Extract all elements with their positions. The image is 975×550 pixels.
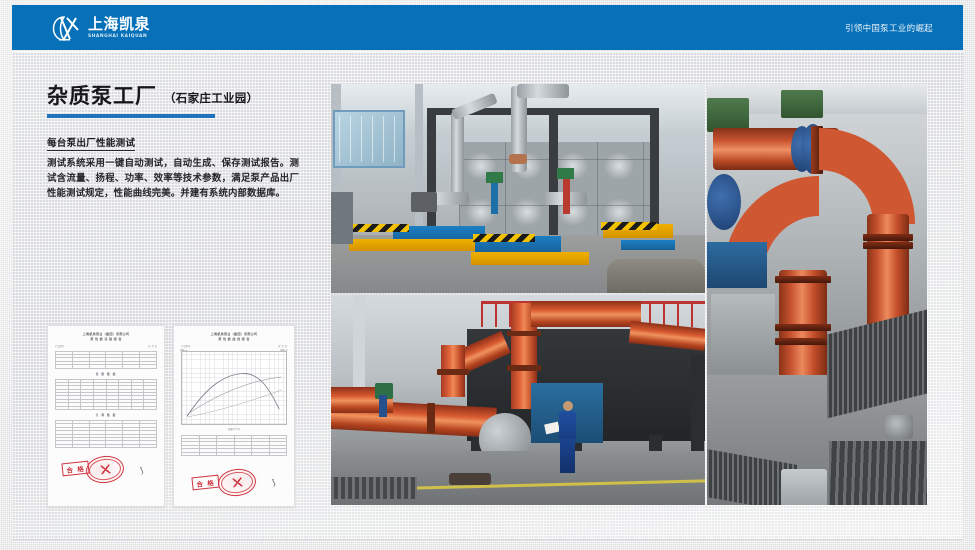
p1-valve-actuator-1 [486, 172, 503, 183]
doc-b-meta-left: 产品型号 [181, 344, 191, 348]
p2-worker-torso [559, 411, 576, 441]
header-bar: 上海凯泉 SHANGHAI KAIQUAN 引领中国泵工业的崛起 [12, 5, 963, 50]
brand-logo[interactable]: 上海凯泉 SHANGHAI KAIQUAN [52, 14, 150, 42]
p2-flange-3 [437, 369, 469, 375]
header-slogan: 引领中国泵工业的崛起 [845, 5, 933, 50]
p1-pipe-coupling [509, 154, 527, 164]
photo-left-column [331, 84, 705, 505]
p3-light-panel [711, 294, 775, 374]
p2-valve-stem [379, 395, 387, 417]
doc-b-performance-curve-chart: 扬程(m) 效率(%) [181, 351, 287, 425]
doc-a-meta-right: 年 月 日 [148, 344, 157, 348]
p1-motor [411, 192, 437, 212]
doc-a-section-1: 性 能 数 据 [55, 372, 157, 376]
body-paragraph: 测试系统采用一键自动测试，自动生成、保存测试报告。测试含流量、扬程、功率、效率等… [47, 156, 299, 202]
p1-horizontal-pipe-top [517, 84, 569, 98]
left-content-column: 杂质泵工厂 （石家庄工业园） 每台泵出厂性能测试 测试系统采用一键自动测试，自动… [47, 86, 302, 202]
p3-blue-machine [707, 242, 767, 288]
p3-right-elbow [819, 128, 915, 224]
p2-floor-tools [449, 473, 491, 485]
p3-right-flange-2 [863, 242, 913, 249]
p3-left-flange-1 [775, 276, 831, 283]
p1-valve-stand-1 [491, 180, 498, 214]
p2-worker-legs [560, 439, 575, 473]
p1-cart-base-2 [471, 252, 589, 265]
p3-green-valve-1 [707, 98, 749, 132]
doc-a-data-table-2 [55, 420, 157, 448]
brand-name-cn: 上海凯泉 [88, 17, 150, 32]
document-pump-curve-report[interactable]: 上海凯泉泵业（集团）有限公司 泵 性 能 曲 线 报 告 产品型号 年 月 日 … [173, 325, 295, 507]
page-title: 杂质泵工厂 （石家庄工业园） [47, 86, 302, 107]
document-pump-test-report[interactable]: 上海凯泉泵业（集团）有限公司 泵 性 能 试 验 报 告 产品型号 年 月 日 … [47, 325, 165, 507]
p2-flange-4 [427, 403, 435, 433]
doc-a-section-2: 计 算 数 据 [55, 413, 157, 417]
p3-channel-grate [829, 441, 927, 505]
brand-logo-text: 上海凯泉 SHANGHAI KAIQUAN [88, 17, 150, 39]
p1-cart-base-1 [349, 239, 479, 251]
p3-spare-flange [885, 415, 913, 439]
page-title-sub: （石家庄工业园） [164, 90, 258, 107]
p3-left-flange-2 [775, 324, 831, 331]
page-root: 上海凯泉 SHANGHAI KAIQUAN 引领中国泵工业的崛起 杂质泵工厂 （… [0, 0, 975, 550]
p3-pipe-water-outlet [781, 469, 827, 505]
doc-a-data-table-1 [55, 379, 157, 411]
p1-control-room [333, 110, 405, 168]
doc-a-meta-left: 产品型号 [55, 344, 65, 348]
p3-right-flange-1 [863, 234, 913, 241]
p3-green-valve-2 [781, 90, 823, 118]
page-title-main: 杂质泵工厂 [47, 86, 157, 107]
brand-name-en: SHANGHAI KAIQUAN [88, 35, 150, 39]
test-hall-stainless-tanks-photo[interactable] [331, 84, 705, 293]
p3-left-flange-3 [775, 338, 831, 345]
p1-hazard-stripe-2 [473, 234, 535, 242]
p2-worker-head [563, 401, 573, 411]
body-heading: 每台泵出厂性能测试 [47, 135, 135, 151]
p1-cart-base-3 [621, 240, 675, 250]
p1-vertical-pipe-2 [451, 112, 464, 198]
document-thumbnails: 上海凯泉泵业（集团）有限公司 泵 性 能 试 验 报 告 产品型号 年 月 日 … [47, 325, 295, 507]
p1-frame-post-2 [549, 108, 558, 253]
p1-valve-stand-2 [563, 176, 570, 214]
p2-building-column [353, 295, 365, 391]
photo-collage [331, 84, 927, 505]
p2-floor-grate [331, 477, 417, 499]
p2-flange-1 [507, 365, 541, 371]
p1-valve-actuator-2 [557, 168, 574, 179]
kaiquan-logo-icon [52, 15, 82, 42]
doc-a-header-table [55, 351, 157, 369]
p1-cabinet [331, 192, 353, 244]
body-text-block: 每台泵出厂性能测试 测试系统采用一键自动测试，自动生成、保存测试报告。测试含流量… [47, 131, 299, 202]
p1-hazard-stripe-3 [601, 222, 657, 230]
p3-blue-flange-3 [707, 174, 741, 230]
p1-hazard-stripe-1 [351, 224, 409, 232]
large-orange-pipes-photo[interactable] [707, 84, 927, 505]
orange-pipe-pump-worker-photo[interactable] [331, 295, 705, 505]
p1-pump-casing-foreground [607, 259, 705, 293]
p2-flange-2 [507, 331, 541, 336]
doc-b-chart-xlabel: 流量(m³/h) [228, 427, 240, 431]
doc-b-subtitle: 泵 性 能 曲 线 报 告 [181, 337, 287, 342]
doc-b-meta-right: 年 月 日 [278, 344, 287, 348]
doc-a-subtitle: 泵 性 能 试 验 报 告 [55, 337, 157, 342]
doc-b-result-table [181, 435, 287, 456]
p2-horizontal-pipe-top [531, 301, 641, 327]
title-underline-rule [47, 114, 215, 118]
